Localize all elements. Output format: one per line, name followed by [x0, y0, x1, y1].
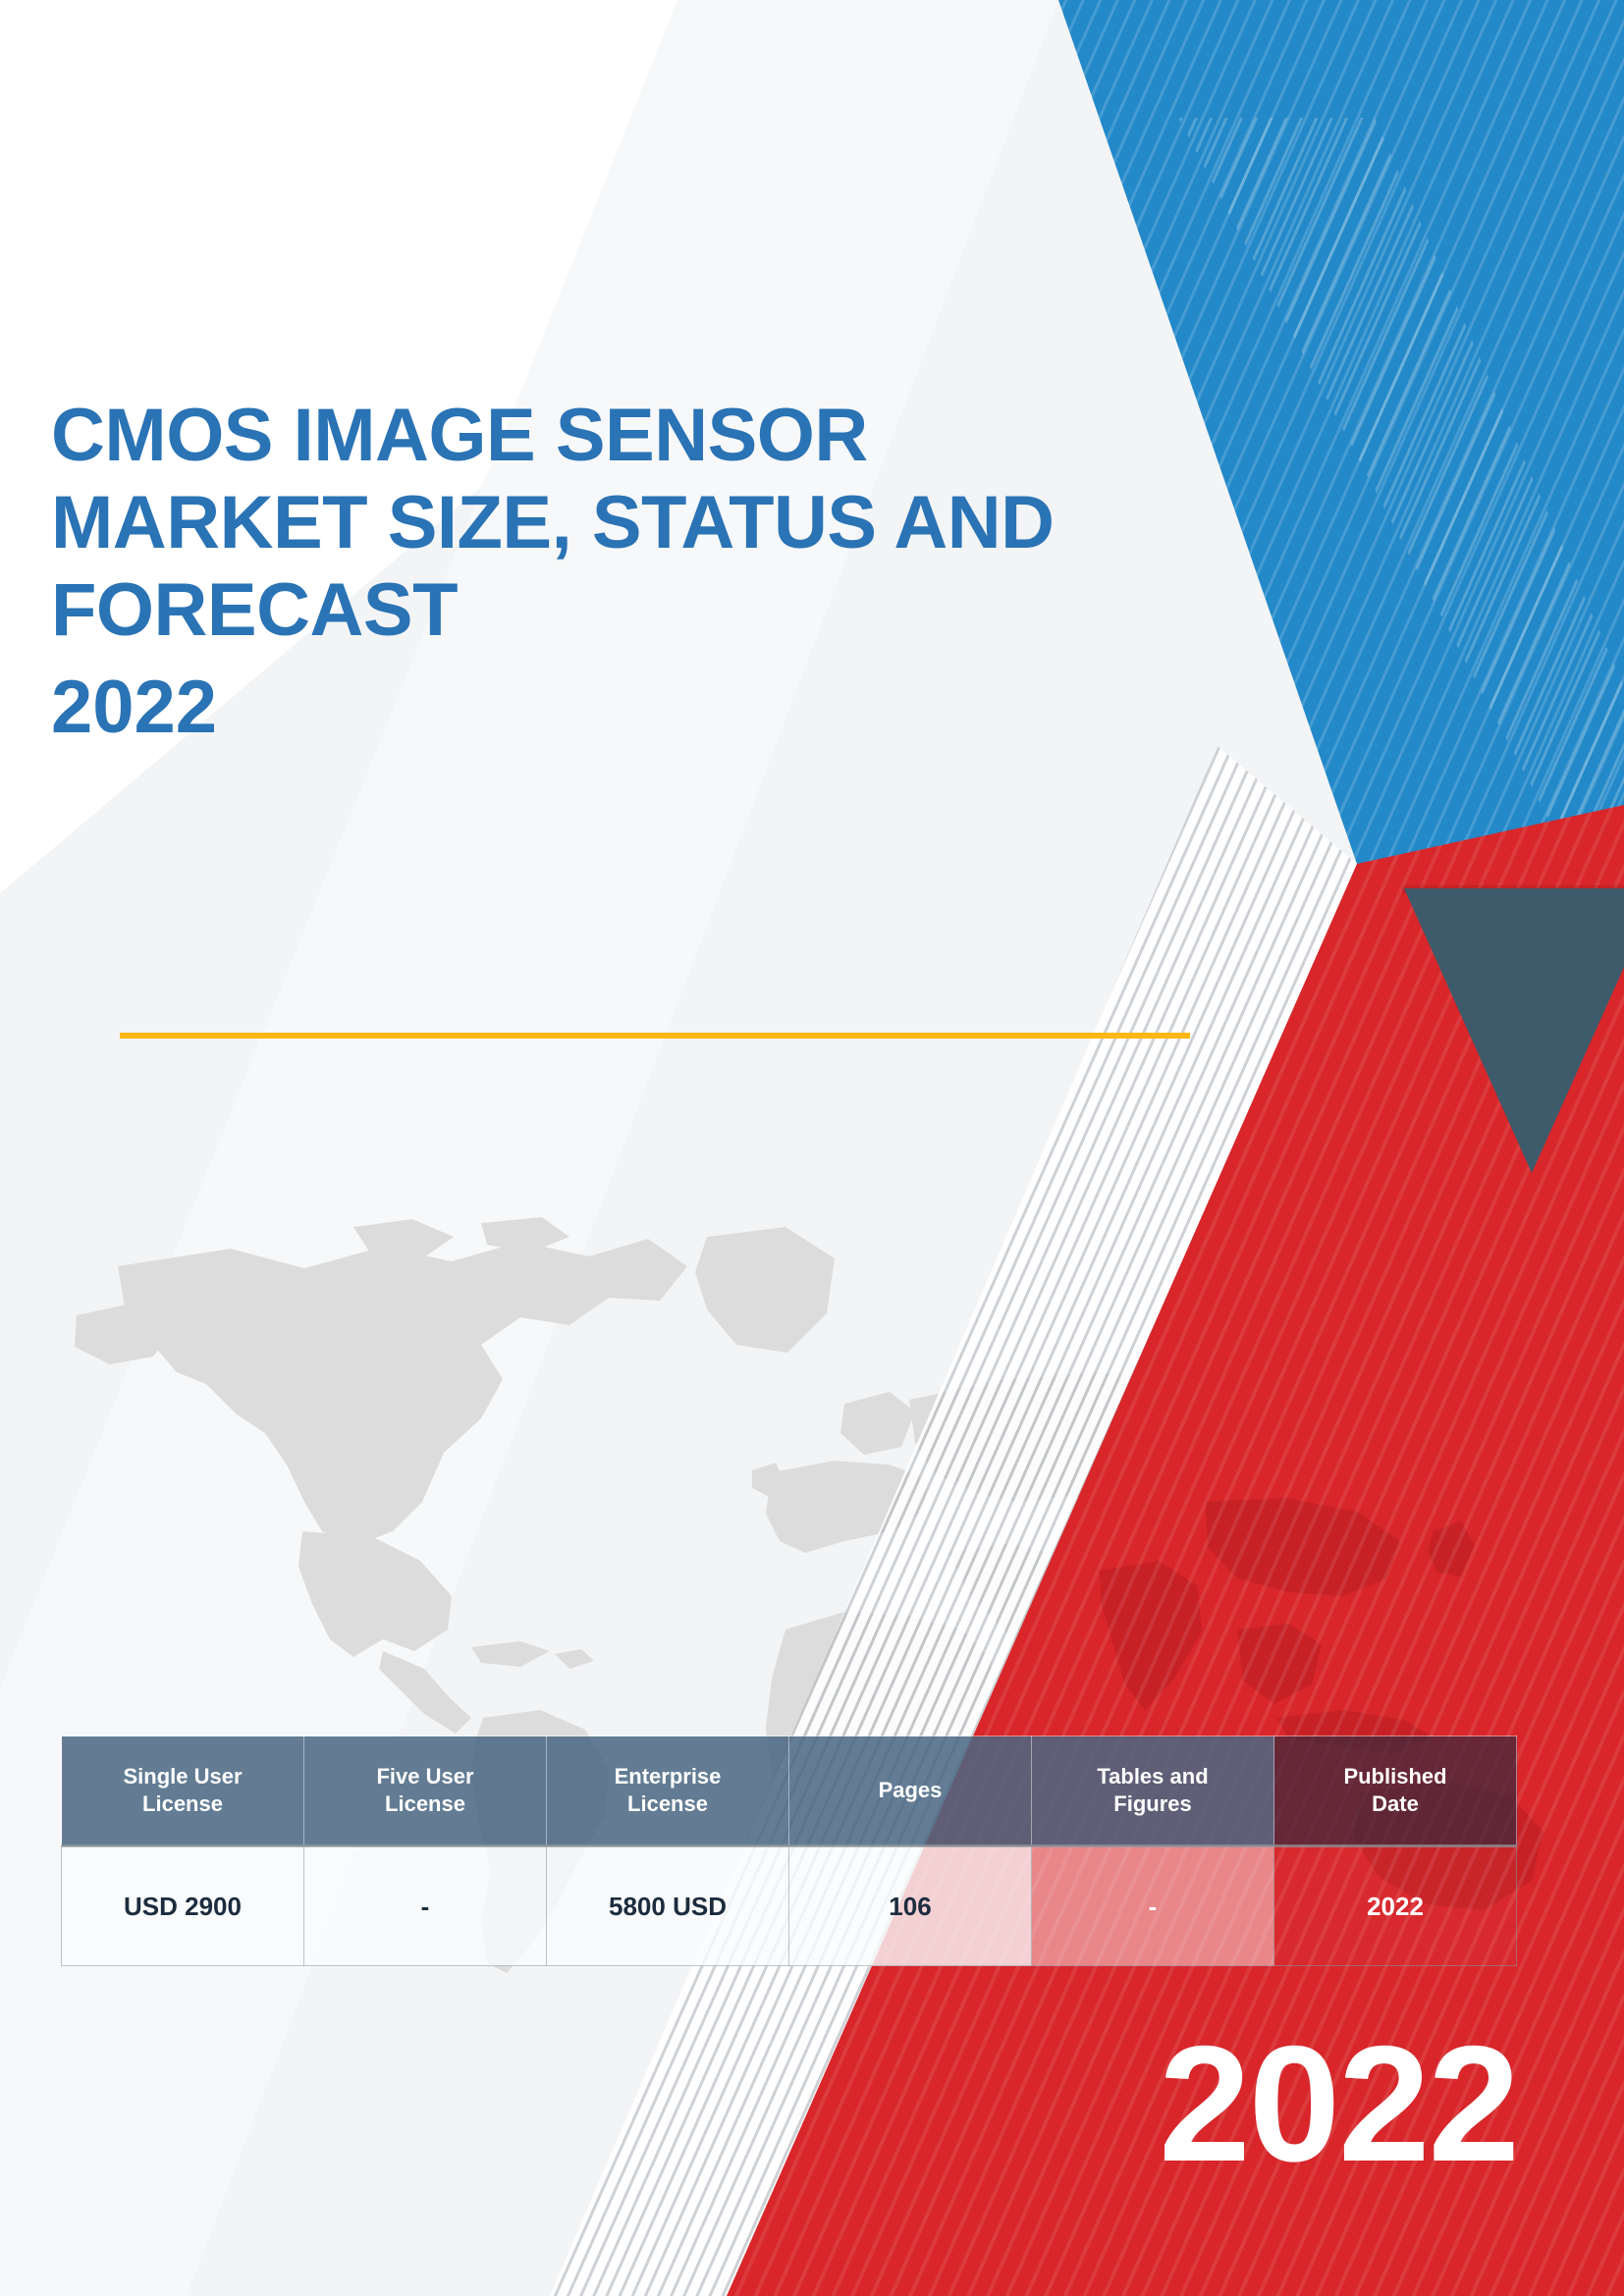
cell-five-user-price: -	[304, 1846, 547, 1966]
title-line-1: CMOS IMAGE SENSOR	[51, 393, 1259, 480]
cell-tables-and-figures: -	[1032, 1846, 1274, 1966]
header-line-a: Five User	[376, 1764, 473, 1789]
title-line-3: FORECAST	[51, 567, 1259, 655]
header-line-b: Figures	[1113, 1791, 1191, 1816]
header-line-b: License	[627, 1791, 708, 1816]
header-pages: Pages	[789, 1736, 1032, 1846]
report-cover: CMOS IMAGE SENSOR MARKET SIZE, STATUS AN…	[0, 0, 1624, 2296]
header-line-a: Tables and	[1097, 1764, 1208, 1789]
cell-single-user-price: USD 2900	[62, 1846, 304, 1966]
header-tables-and-figures: Tables and Figures	[1032, 1736, 1274, 1846]
cell-published-date: 2022	[1274, 1846, 1517, 1966]
header-single-user-license: Single User License	[62, 1736, 304, 1846]
title-line-2: MARKET SIZE, STATUS AND	[51, 480, 1259, 567]
table-header-row: Single User License Five User License En…	[62, 1736, 1517, 1846]
header-line-b: License	[142, 1791, 223, 1816]
header-published-date: Published Date	[1274, 1736, 1517, 1846]
header-enterprise-license: Enterprise License	[547, 1736, 789, 1846]
header-line-a: Single User	[123, 1764, 242, 1789]
cell-enterprise-price: 5800 USD	[547, 1846, 789, 1966]
license-details-table: Single User License Five User License En…	[61, 1735, 1517, 1966]
table-row: USD 2900 - 5800 USD 106 - 2022	[62, 1846, 1517, 1966]
cover-title-block: CMOS IMAGE SENSOR MARKET SIZE, STATUS AN…	[51, 393, 1259, 752]
header-five-user-license: Five User License	[304, 1736, 547, 1846]
header-line-b: Date	[1372, 1791, 1419, 1816]
header-line-a: Enterprise	[615, 1764, 722, 1789]
cell-pages: 106	[789, 1846, 1032, 1966]
yellow-divider-rule	[120, 1033, 1190, 1039]
dark-slate-triangle	[1404, 888, 1624, 1173]
cover-big-year: 2022	[1159, 2021, 1518, 2186]
title-year: 2022	[51, 665, 1259, 752]
header-line-a: Pages	[879, 1778, 943, 1802]
header-line-a: Published	[1343, 1764, 1446, 1789]
header-line-b: License	[385, 1791, 465, 1816]
